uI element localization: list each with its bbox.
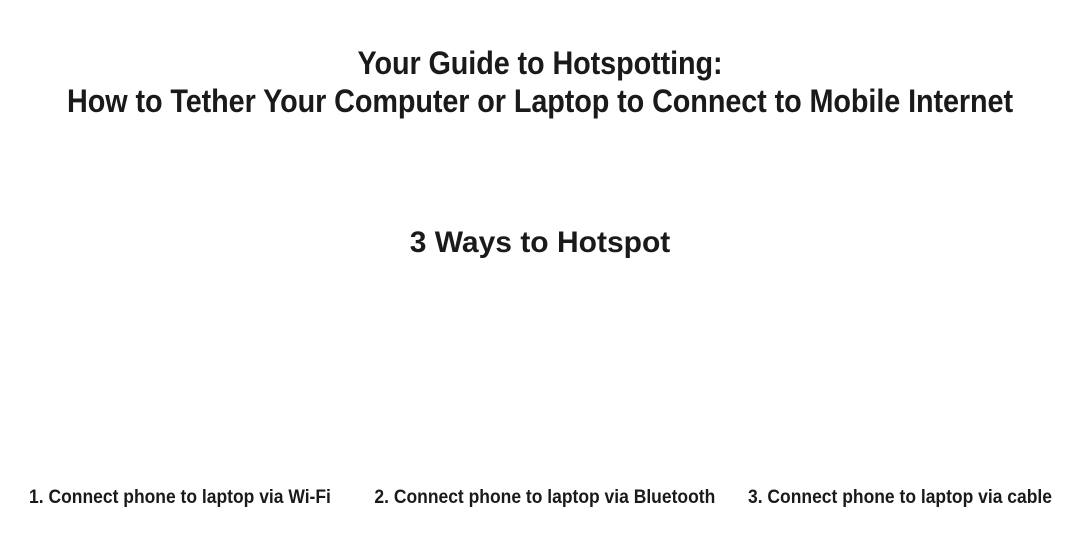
page-title: Your Guide to Hotspotting: How to Tether… (54, 44, 1026, 120)
method-caption-2: 2. Connect phone to laptop via Bluetooth (374, 485, 705, 513)
page-title-line-2: How to Tether Your Computer or Laptop to… (54, 82, 1026, 120)
bluetooth-tethering-illustration (360, 290, 720, 475)
method-caption-1: 1. Connect phone to laptop via Wi-Fi (14, 485, 345, 513)
caption-row: 1. Connect phone to laptop via Wi-Fi 2. … (0, 485, 1080, 513)
section-heading: 3 Ways to Hotspot (0, 224, 1080, 262)
illustration-cell-2 (360, 290, 720, 475)
infographic-page: Your Guide to Hotspotting: How to Tether… (0, 0, 1080, 552)
illustration-cell-1 (0, 290, 360, 475)
wifi-tethering-illustration (0, 290, 360, 475)
cable-tethering-illustration (720, 290, 1080, 475)
page-title-line-1: Your Guide to Hotspotting: (54, 44, 1026, 82)
method-caption-3: 3. Connect phone to laptop via cable (734, 485, 1065, 513)
illustration-cell-3 (720, 290, 1080, 475)
illustration-row (0, 290, 1080, 475)
